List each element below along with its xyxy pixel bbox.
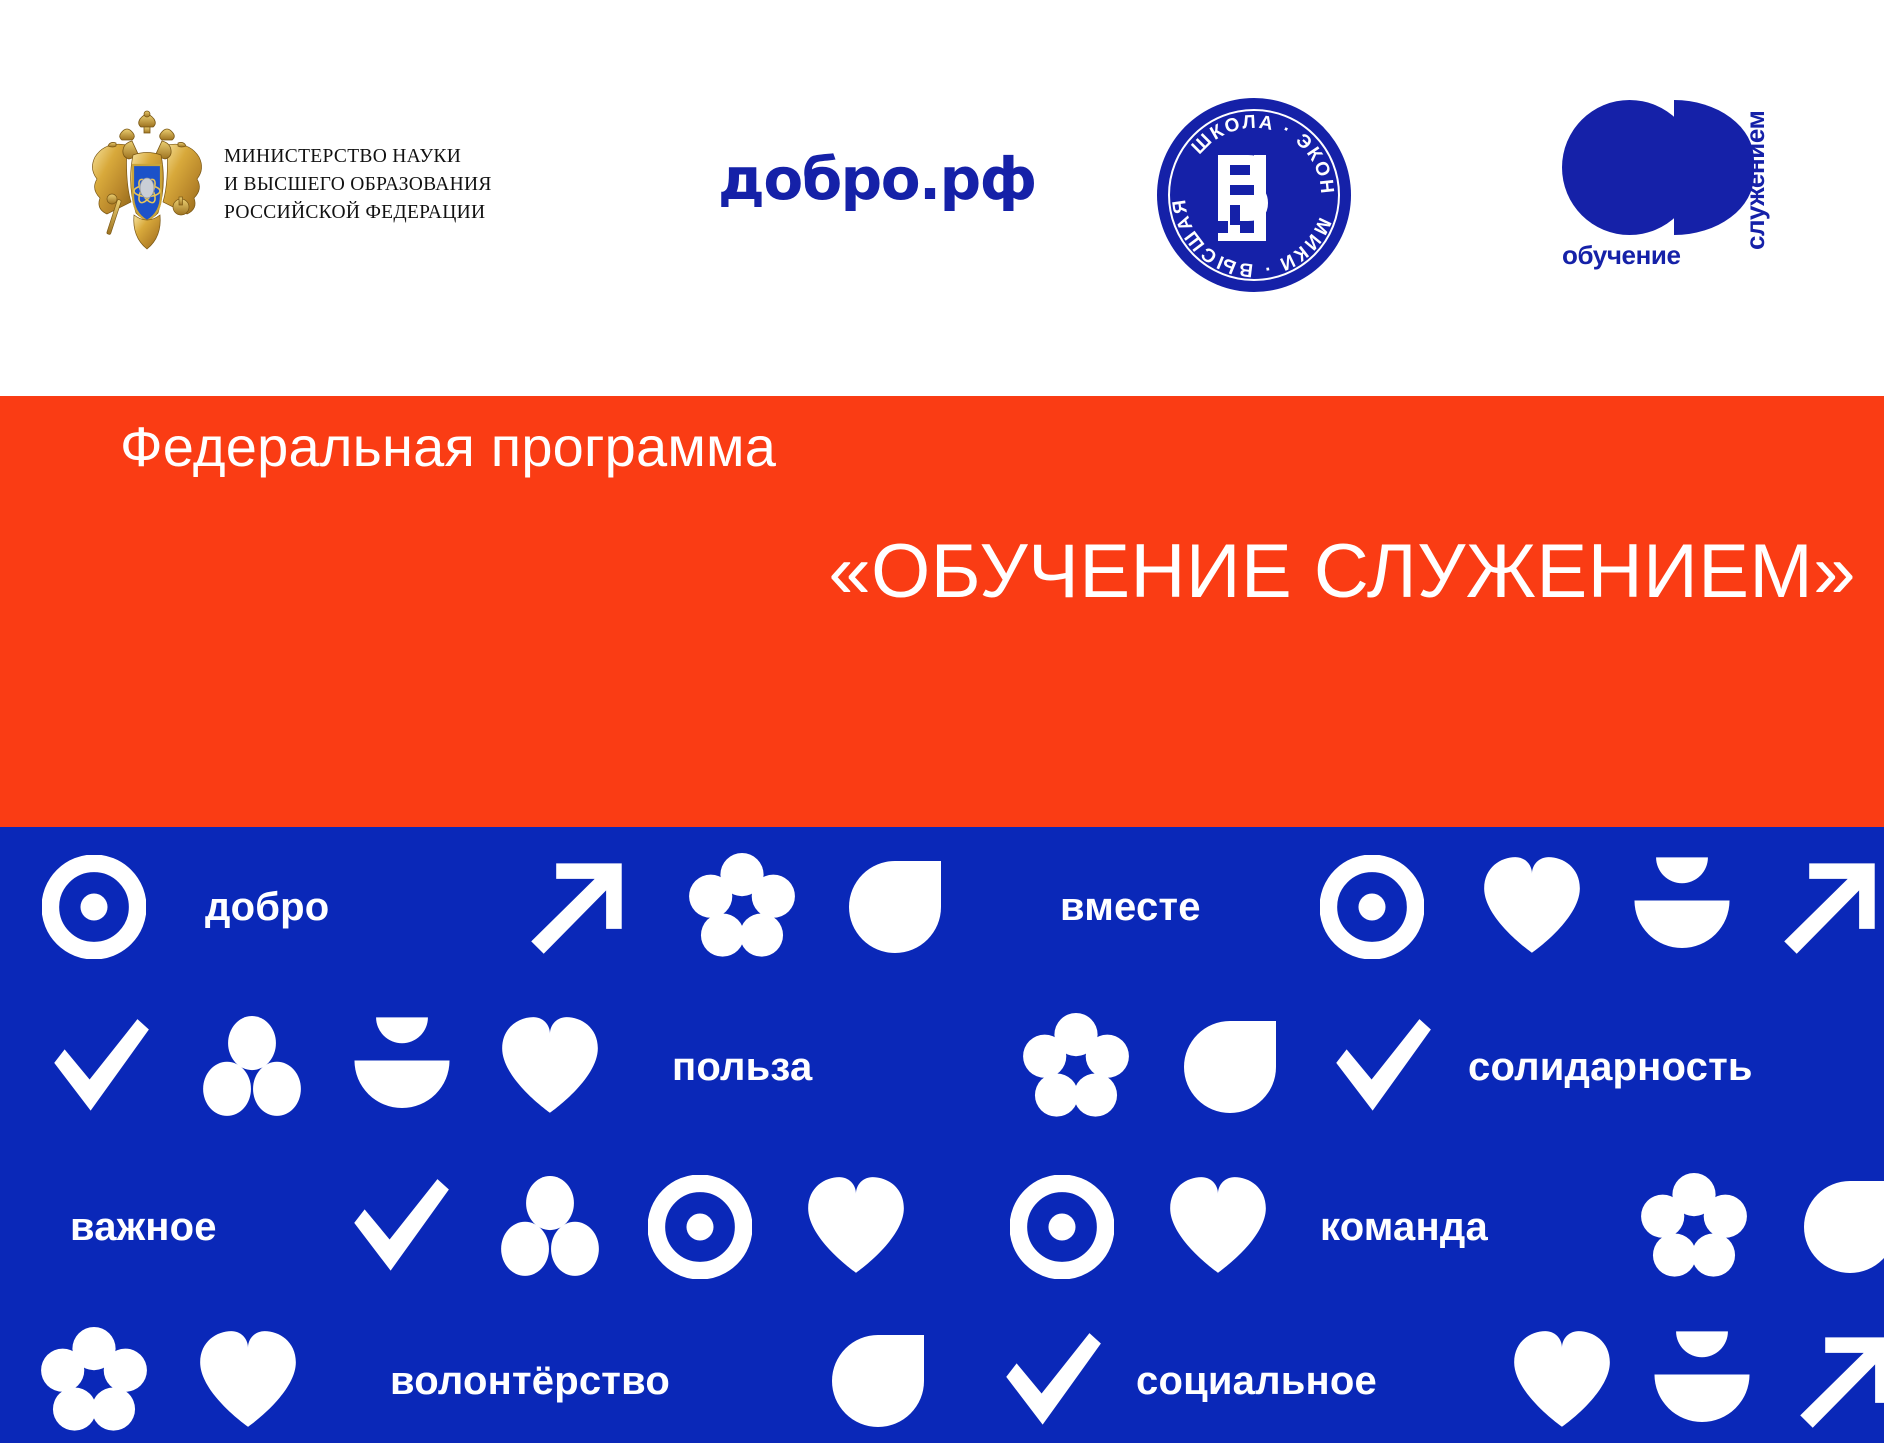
os-label-sluzheniem: служением xyxy=(1740,111,1771,250)
pattern-word-label: солидарность xyxy=(1468,1047,1753,1087)
pattern-row: волонтёрствосоциальное xyxy=(0,1301,1884,1443)
heart-icon xyxy=(196,1331,300,1431)
arrow-up-right-icon xyxy=(1794,1331,1884,1431)
ministry-name-line-1: МИНИСТЕРСТВО НАУКИ xyxy=(224,143,492,171)
target-icon xyxy=(1010,1177,1114,1277)
flower-icon xyxy=(40,1331,148,1431)
pattern-word-label: важное xyxy=(70,1207,217,1247)
presentation-slide: МИНИСТЕРСТВО НАУКИ И ВЫСШЕГО ОБРАЗОВАНИЯ… xyxy=(0,0,1884,1443)
logo-hse-university: ШКОЛА · ЭКОНО МИКИ · ВЫСШАЯ · xyxy=(1157,98,1351,292)
dobro-rf-wordmark: добро.рф xyxy=(718,150,1036,208)
heart-icon xyxy=(498,1017,602,1117)
pattern-word: социальное xyxy=(1136,1331,1377,1431)
check-icon xyxy=(48,1017,152,1117)
flower-icon xyxy=(688,857,796,957)
trio-circles-icon xyxy=(200,1017,304,1117)
pattern-row: важноекоманда xyxy=(0,1147,1884,1307)
obuchenie-sluzheniem-mark-icon: обучение служением xyxy=(1562,100,1758,270)
flower-icon xyxy=(1022,1017,1130,1117)
drop-icon xyxy=(845,857,945,957)
pattern-word: команда xyxy=(1320,1177,1488,1277)
pattern-word: важное xyxy=(70,1177,217,1277)
logo-ministry-of-science: МИНИСТЕРСТВО НАУКИ И ВЫСШЕГО ОБРАЗОВАНИЯ… xyxy=(88,103,492,263)
drop-icon xyxy=(1180,1017,1280,1117)
arrow-up-right-icon xyxy=(1778,857,1882,957)
target-icon xyxy=(42,857,146,957)
ministry-name: МИНИСТЕРСТВО НАУКИ И ВЫСШЕГО ОБРАЗОВАНИЯ… xyxy=(224,139,492,226)
pattern-word-label: социальное xyxy=(1136,1361,1377,1401)
arrow-up-right-icon xyxy=(525,857,629,957)
os-label-obuchenie: обучение xyxy=(1562,240,1681,271)
flower-icon xyxy=(1640,1177,1748,1277)
pattern-word-label: волонтёрство xyxy=(390,1361,670,1401)
heart-icon xyxy=(1166,1177,1270,1277)
ministry-name-line-3: РОССИЙСКОЙ ФЕДЕРАЦИИ xyxy=(224,199,492,227)
logo-dobro-rf: добро.рф xyxy=(718,150,1036,208)
banner-title: «ОБУЧЕНИЕ СЛУЖЕНИЕМ» xyxy=(828,528,1856,615)
drop-icon xyxy=(1800,1177,1884,1277)
pattern-row: добровместе xyxy=(0,827,1884,987)
bowl-icon xyxy=(1648,1331,1756,1431)
partner-logo-bar: МИНИСТЕРСТВО НАУКИ И ВЫСШЕГО ОБРАЗОВАНИЯ… xyxy=(0,0,1884,396)
pattern-row: пользасолидарность xyxy=(0,987,1884,1147)
icon-pattern-band: добровместе пользасолидарность важноеком… xyxy=(0,827,1884,1443)
pattern-word: добро xyxy=(205,857,329,957)
hse-seal-icon: ШКОЛА · ЭКОНО МИКИ · ВЫСШАЯ · xyxy=(1157,98,1351,292)
check-icon xyxy=(348,1177,452,1277)
heart-icon xyxy=(1510,1331,1614,1431)
heart-icon xyxy=(804,1177,908,1277)
pattern-word-label: польза xyxy=(672,1047,812,1087)
trio-circles-icon xyxy=(498,1177,602,1277)
check-icon xyxy=(1000,1331,1104,1431)
pattern-word: польза xyxy=(672,1017,812,1117)
target-icon xyxy=(648,1177,752,1277)
pattern-word-label: вместе xyxy=(1060,887,1201,927)
pattern-word-label: команда xyxy=(1320,1207,1488,1247)
target-icon xyxy=(1320,857,1424,957)
pattern-word: солидарность xyxy=(1468,1017,1753,1117)
heart-icon xyxy=(1480,857,1584,957)
bowl-icon xyxy=(348,1017,456,1117)
pattern-word-label: добро xyxy=(205,887,329,927)
drop-icon xyxy=(828,1331,928,1431)
banner-subtitle: Федеральная программа xyxy=(120,414,776,479)
pattern-word: вместе xyxy=(1060,857,1201,957)
logo-obuchenie-sluzheniem: обучение служением xyxy=(1562,100,1758,270)
check-icon xyxy=(1330,1017,1434,1117)
title-banner: Федеральная программа «ОБУЧЕНИЕ СЛУЖЕНИЕ… xyxy=(0,396,1884,827)
ministry-name-line-2: И ВЫСШЕГО ОБРАЗОВАНИЯ xyxy=(224,171,492,199)
russian-double-headed-eagle-emblem-icon xyxy=(88,103,206,263)
pattern-word: волонтёрство xyxy=(390,1331,670,1431)
bowl-icon xyxy=(1628,857,1736,957)
